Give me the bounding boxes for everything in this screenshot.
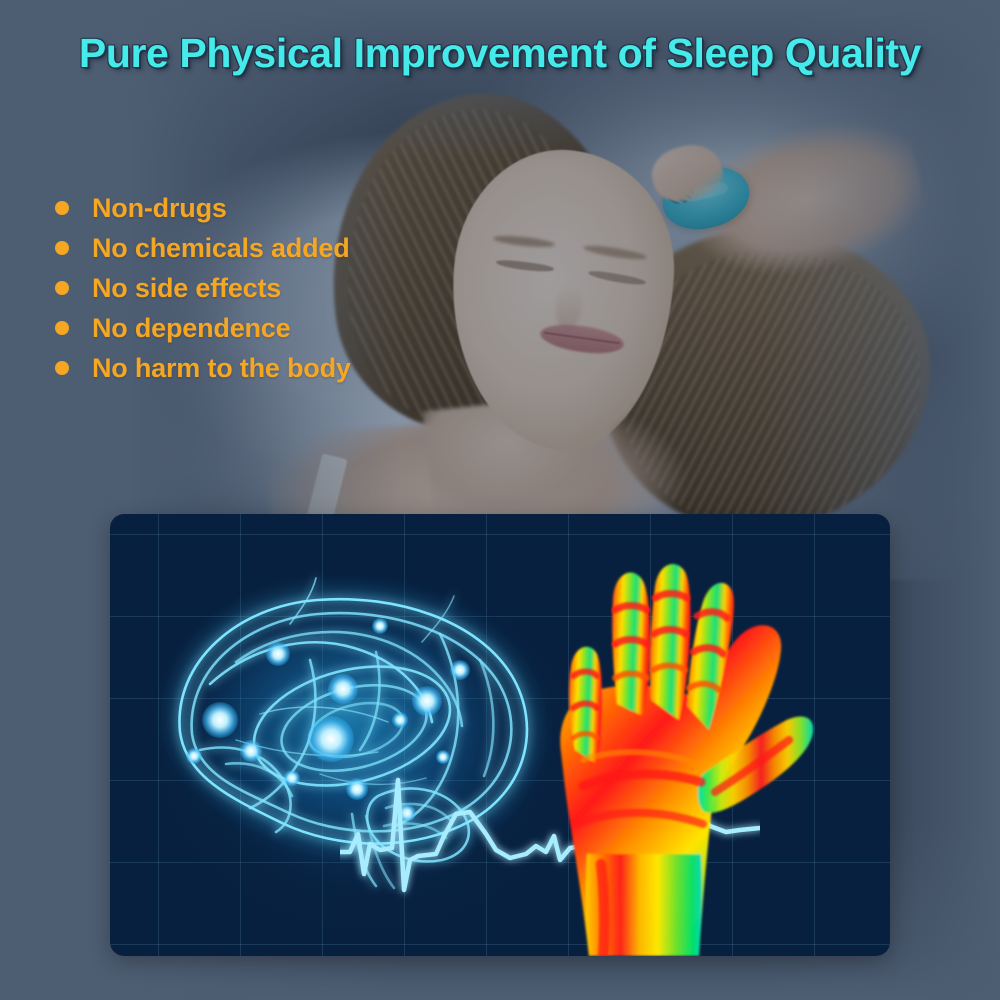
bullet-dot-icon [55, 241, 69, 255]
list-item: No harm to the body [55, 348, 351, 388]
promo-graphic: Pure Physical Improvement of Sleep Quali… [0, 0, 1000, 1000]
bullet-dot-icon [55, 281, 69, 295]
neural-node [266, 642, 290, 666]
bullet-dot-icon [55, 201, 69, 215]
bullet-dot-icon [55, 361, 69, 375]
neural-node [284, 770, 300, 786]
page-title: Pure Physical Improvement of Sleep Quali… [0, 30, 1000, 77]
list-item-label: No side effects [92, 273, 281, 304]
neural-node [240, 740, 262, 762]
list-item-label: No dependence [92, 313, 290, 344]
benefits-list: Non-drugs No chemicals added No side eff… [55, 188, 351, 388]
neural-node [186, 748, 202, 764]
neural-node [372, 618, 388, 634]
list-item: No side effects [55, 268, 351, 308]
list-item-label: No harm to the body [92, 353, 351, 384]
list-item: No chemicals added [55, 228, 351, 268]
list-item: Non-drugs [55, 188, 351, 228]
list-item: No dependence [55, 308, 351, 348]
list-item-label: No chemicals added [92, 233, 350, 264]
thermal-palm-icon [465, 524, 875, 956]
bullet-dot-icon [55, 321, 69, 335]
thermal-hand-illustration [465, 524, 875, 956]
list-item-label: Non-drugs [92, 193, 227, 224]
neural-node [202, 702, 238, 738]
media-panel [110, 514, 890, 956]
